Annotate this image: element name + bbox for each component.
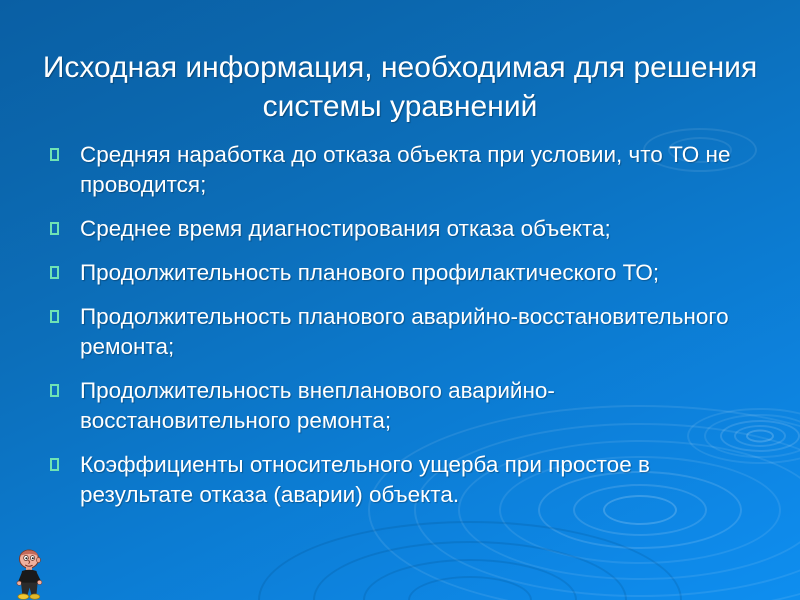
square-bullet-icon <box>50 148 59 161</box>
list-item-label: Коэффициенты относительного ущерба при п… <box>80 450 756 510</box>
list-item: Коэффициенты относительного ущерба при п… <box>44 450 756 510</box>
ripple-ring <box>408 576 532 600</box>
square-bullet-icon <box>50 222 59 235</box>
list-item: Продолжительность планового аварийно-вос… <box>44 302 756 362</box>
square-bullet-icon <box>50 266 59 279</box>
ripple-ring <box>363 559 577 600</box>
list-item-label: Продолжительность внепланового аварийно-… <box>80 376 756 436</box>
list-item: Продолжительность планового профилактиче… <box>44 258 756 288</box>
presentation-slide: Исходная информация, необходимая для реш… <box>0 0 800 600</box>
list-item-label: Продолжительность планового аварийно-вос… <box>80 302 756 362</box>
list-item: Продолжительность внепланового аварийно-… <box>44 376 756 436</box>
list-item: Средняя наработка до отказа объекта при … <box>44 140 756 200</box>
list-item: Среднее время диагностирования отказа об… <box>44 214 756 244</box>
list-item-label: Средняя наработка до отказа объекта при … <box>80 140 756 200</box>
list-item-label: Продолжительность планового профилактиче… <box>80 258 756 288</box>
square-bullet-icon <box>50 384 59 397</box>
square-bullet-icon <box>50 310 59 323</box>
ripple-ring <box>258 521 682 600</box>
ripple-ring <box>313 541 627 600</box>
list-item-label: Среднее время диагностирования отказа об… <box>80 214 756 244</box>
square-bullet-icon <box>50 458 59 471</box>
slide-bullet-list: Средняя наработка до отказа объекта при … <box>44 140 756 510</box>
cartoon-man-clipart-icon <box>13 548 49 600</box>
slide-title: Исходная информация, необходимая для реш… <box>40 48 760 126</box>
